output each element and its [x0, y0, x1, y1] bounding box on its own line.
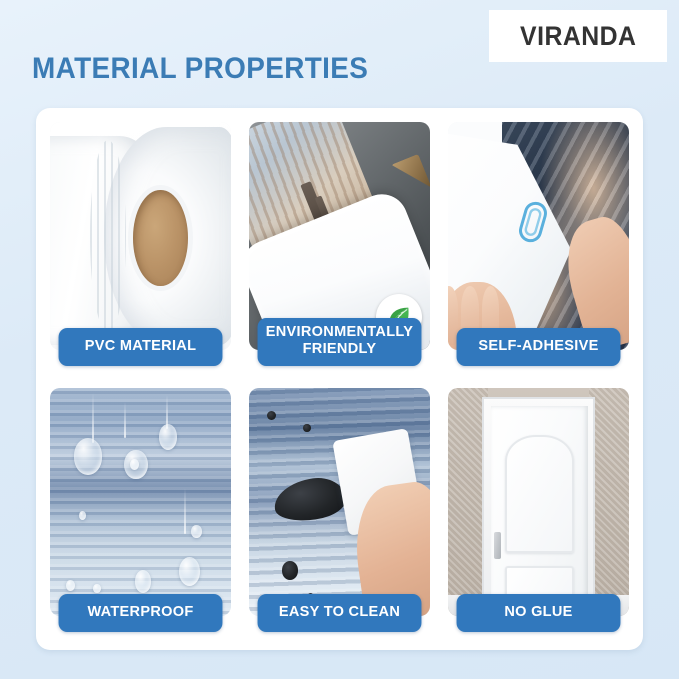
cardboard-core: [133, 190, 187, 286]
photo-wiping-stain: [249, 388, 430, 616]
door-handle: [494, 532, 501, 559]
feature-label-environmentally-friendly: ENVIRONMENTALLY FRIENDLY: [258, 318, 422, 366]
photo-pvc-vinyl-roll: [50, 122, 231, 350]
feature-cell-pvc-material[interactable]: PVC MATERIAL: [50, 122, 231, 372]
feature-grid: PVC MATERIAL: [50, 122, 629, 638]
feature-cell-environmentally-friendly[interactable]: ENVIRONMENTALLY FRIENDLY: [249, 122, 430, 372]
feature-label-easy-to-clean: EASY TO CLEAN: [258, 594, 422, 632]
brand-logo-text: VIRANDA: [520, 21, 636, 52]
photo-peeling-backing-paper: [448, 122, 629, 350]
feature-label-waterproof: WATERPROOF: [59, 594, 223, 632]
feature-cell-self-adhesive[interactable]: SELF-ADHESIVE: [448, 122, 629, 372]
feature-label-self-adhesive: SELF-ADHESIVE: [457, 328, 621, 366]
feature-cell-waterproof[interactable]: WATERPROOF: [50, 388, 231, 638]
feature-cell-no-glue[interactable]: NO GLUE: [448, 388, 629, 638]
page-title: MATERIAL PROPERTIES: [32, 52, 368, 86]
feature-cell-easy-to-clean[interactable]: EASY TO CLEAN: [249, 388, 430, 638]
photo-water-droplets: [50, 388, 231, 616]
feature-label-no-glue: NO GLUE: [457, 594, 621, 632]
photo-wood-grain-wallpaper-roll: [249, 122, 430, 350]
feature-card: PVC MATERIAL: [36, 108, 643, 650]
label-line-1: ENVIRONMENTALLY: [266, 323, 413, 340]
label-line-2: FRIENDLY: [303, 340, 377, 357]
door-leaf: [491, 406, 588, 616]
feature-label-pvc-material: PVC MATERIAL: [59, 328, 223, 366]
door-frame: [482, 397, 594, 616]
brand-logo-badge: VIRANDA: [489, 10, 667, 62]
photo-white-door: [448, 388, 629, 616]
